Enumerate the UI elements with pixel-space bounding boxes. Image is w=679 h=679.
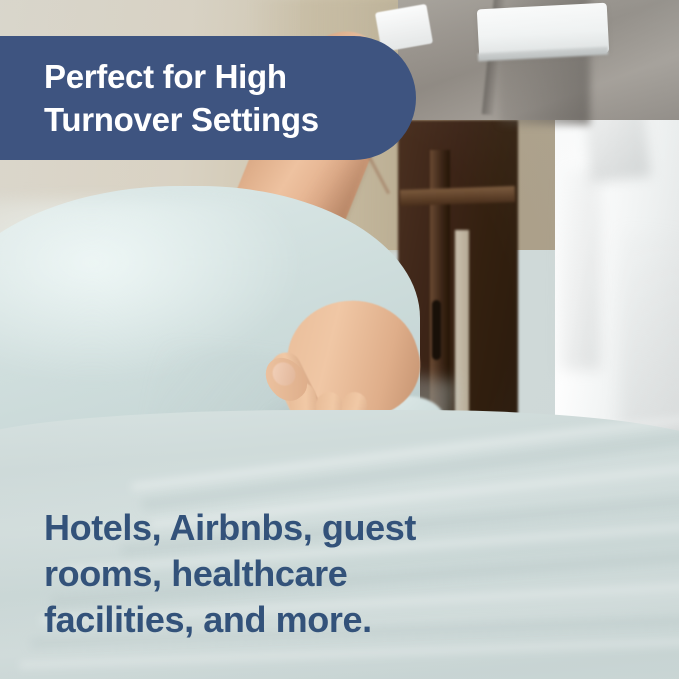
apron-fold: [560, 170, 600, 370]
caption-line-1: Hotels, Airbnbs, guest: [44, 505, 514, 551]
lifestyle-product-image: Perfect for High Turnover Settings Hotel…: [0, 0, 679, 679]
headboard-hardware: [432, 300, 441, 360]
caption-line-2: rooms, healthcare: [44, 551, 514, 597]
headline-line-1: Perfect for High: [44, 55, 386, 98]
headline-banner: Perfect for High Turnover Settings: [0, 36, 416, 160]
caption-block: Hotels, Airbnbs, guest rooms, healthcare…: [44, 505, 514, 643]
headline-line-2: Turnover Settings: [44, 98, 386, 141]
caption-line-3: facilities, and more.: [44, 597, 514, 643]
